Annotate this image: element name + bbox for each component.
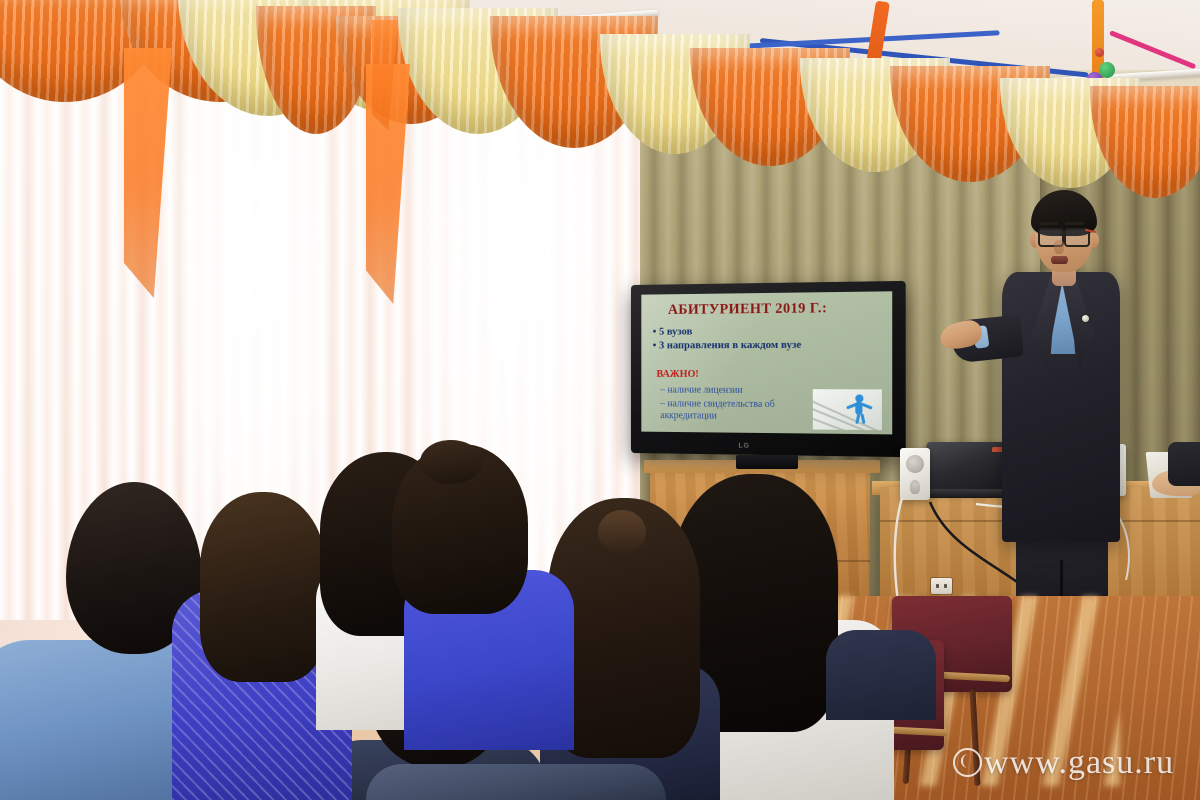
presenter-lapel-pin [1082, 315, 1089, 322]
tv-stand [736, 455, 798, 469]
copyright-icon [953, 748, 982, 777]
sub-marker-2: – [660, 398, 665, 409]
decor-ball-red [1095, 48, 1104, 57]
presenter-nose [1054, 240, 1064, 254]
photo-scene: АБИТУРИЕНТ 2019 Г.: • 5 вузов • 3 направ… [0, 0, 1200, 800]
slide-clipart [813, 389, 882, 430]
slide-sub-2-text: наличие свидетельства об аккредитации [660, 398, 774, 421]
slide-sub-1: – наличие лицензии [660, 385, 742, 397]
tv-screen: АБИТУРИЕНТ 2019 Г.: • 5 вузов • 3 направ… [641, 291, 892, 434]
slide-bullet-1-text: 5 вузов [659, 326, 692, 338]
eyeglasses-bridge [1060, 234, 1066, 236]
slide-sub-2: – наличие свидетельства об аккредитации [660, 398, 806, 423]
audience-hair-part [598, 510, 646, 554]
presenter-brow-left [1039, 222, 1058, 225]
speaker-left-cone [906, 455, 924, 473]
slide-bullet-2: • 3 направления в каждом вузе [653, 339, 829, 352]
audience-hair [200, 492, 326, 682]
stick-figure-arm-right [861, 403, 872, 410]
television: АБИТУРИЕНТ 2019 Г.: • 5 вузов • 3 направ… [631, 281, 906, 457]
slide-bullet-1: • 5 вузов [653, 326, 693, 339]
audience-torso [826, 630, 936, 720]
presenter-brow-right [1065, 222, 1084, 225]
presenter-mouth [1051, 256, 1068, 264]
decor-ball-green [1099, 62, 1115, 78]
slide-bullet-2-text: 3 направления в каждом вузе [659, 339, 801, 352]
slide-important-label: ВАЖНО! [656, 369, 698, 380]
bullet-marker-2: • [653, 340, 657, 352]
assistant-sleeve [1168, 442, 1200, 486]
bullet-marker: • [653, 326, 657, 338]
audience-torso [366, 764, 666, 800]
slide-title: АБИТУРИЕНТ 2019 Г.: [668, 300, 827, 319]
tv-brand-logo: LG [738, 443, 750, 450]
sub-marker-1: – [660, 385, 665, 396]
audience-hair-bun [420, 440, 482, 484]
watermark-text: www.gasu.ru [984, 744, 1174, 782]
slide-sub-1-text: наличие лицензии [667, 385, 742, 396]
